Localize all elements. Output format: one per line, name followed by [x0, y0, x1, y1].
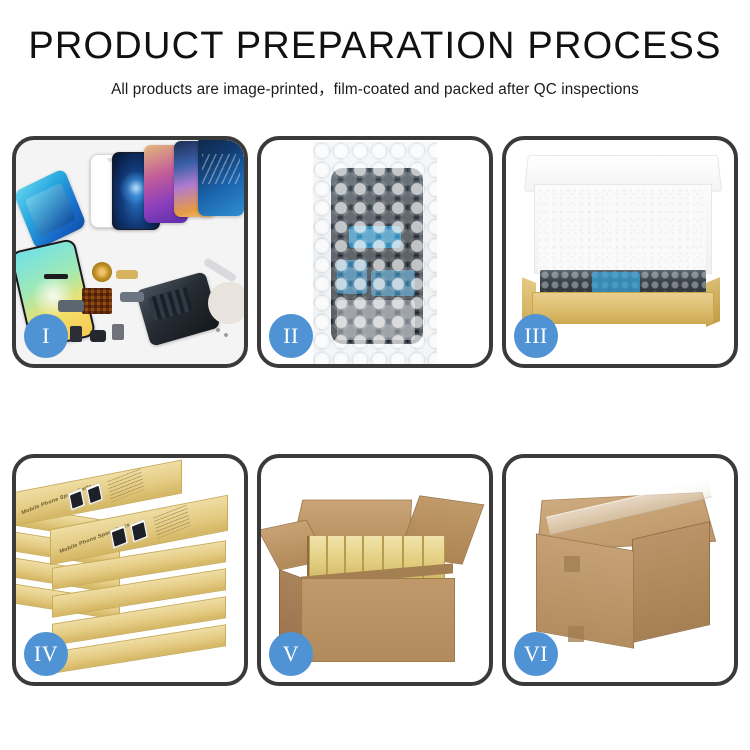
screen-gray-area — [337, 300, 415, 340]
foam-lining — [538, 188, 706, 272]
camera-module-part-icon — [70, 326, 82, 342]
screen-blue-highlight — [349, 226, 401, 248]
step-panel-4: Mobile Phone Spare Parts Mobile Phone Sp… — [12, 454, 248, 686]
gold-box-in-carton — [423, 536, 445, 584]
page-subtitle: All products are image-printed，film-coat… — [0, 77, 750, 99]
wrapped-phone-screen — [331, 168, 423, 344]
flex-cable-part-icon — [120, 292, 144, 302]
gold-connector-part-icon — [116, 270, 138, 279]
inner-box-front-wall — [532, 292, 714, 324]
sealed-carton-right-face — [632, 521, 710, 643]
step-panel-5: V — [257, 454, 493, 686]
bubble-wrap-sheet — [313, 142, 437, 364]
step-badge-3: III — [514, 314, 558, 358]
box-phone-image — [67, 488, 85, 512]
sealed-carton-front-face — [536, 533, 634, 648]
hand-icon — [208, 282, 244, 324]
blue-lcd-panel-icon — [16, 168, 87, 250]
product-preparation-infographic: PRODUCT PREPARATION PROCESS All products… — [0, 0, 750, 750]
battery-part-icon — [112, 324, 124, 340]
box-phone-image — [85, 482, 103, 506]
chip-array-part-icon — [82, 288, 112, 314]
step-badge-1: I — [24, 314, 68, 358]
step-panel-2: II — [257, 136, 493, 368]
box-checklist-text — [107, 468, 145, 502]
speaker-coil-part-icon — [92, 262, 112, 282]
box-phone-image — [129, 519, 149, 544]
screws-part-icon — [214, 326, 232, 340]
antenna-bar-part-icon — [44, 274, 68, 279]
step-panel-6: VI — [502, 454, 738, 686]
box-checklist-text — [153, 505, 191, 539]
step-badge-4: IV — [24, 632, 68, 676]
speaker-part-icon — [90, 330, 106, 342]
step-panel-3: III — [502, 136, 738, 368]
carton-handle-tab — [564, 556, 580, 572]
step-badge-6: VI — [514, 632, 558, 676]
page-title: PRODUCT PREPARATION PROCESS — [0, 27, 750, 67]
box-phone-image — [109, 524, 129, 549]
header: PRODUCT PREPARATION PROCESS All products… — [0, 0, 750, 99]
blue-wave-phone-icon — [198, 140, 244, 216]
carton-front-face — [301, 578, 455, 662]
step-badge-2: II — [269, 314, 313, 358]
phone-logicboard-icon — [135, 271, 220, 347]
step-panel-1: I — [12, 136, 248, 368]
screen-blue-highlight — [337, 260, 367, 294]
steps-grid: I II — [12, 136, 738, 686]
step-badge-5: V — [269, 632, 313, 676]
carton-handle-tab — [568, 626, 584, 642]
screen-blue-highlight — [371, 270, 415, 296]
flex-cable-part-icon — [58, 300, 84, 312]
